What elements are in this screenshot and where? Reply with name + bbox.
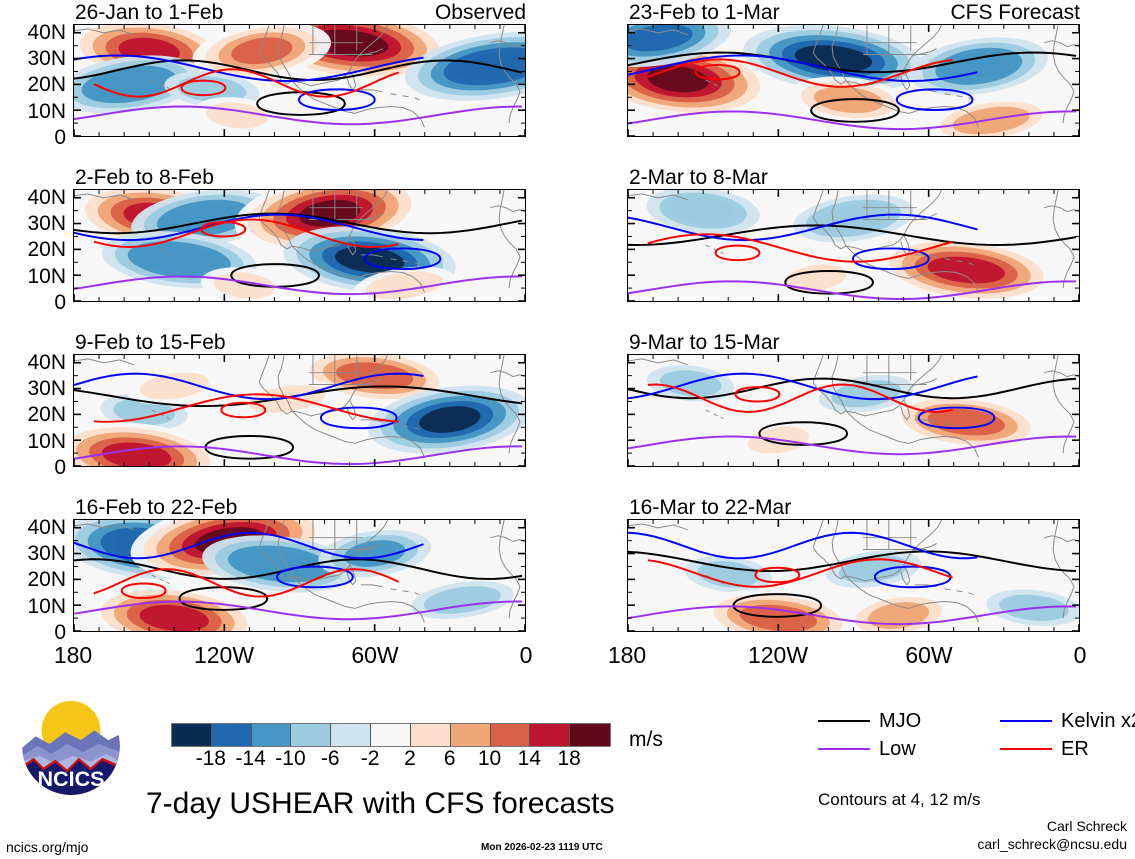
y-axis-label-row4-4: 0 [0, 622, 66, 643]
ncics-logo: NCICS [22, 697, 120, 795]
legend-item-er: ER [1000, 739, 1089, 759]
legend-line-swatch [1000, 720, 1052, 722]
y-axis-label-row3-3: 10N [0, 431, 66, 452]
y-axis-label-row1-2: 20N [0, 74, 66, 95]
y-axis-label-row4-0: 40N [0, 517, 66, 538]
legend-label: MJO [879, 711, 921, 731]
colorbar-segment-2 [252, 724, 292, 746]
x-axis-label-col2-1: 120W [718, 644, 838, 667]
ncics-logo-icon: NCICS [22, 697, 120, 795]
panel-title-fcst-3: 9-Mar to 15-Mar [629, 332, 780, 353]
panel-title-fcst-4: 16-Mar to 22-Mar [629, 497, 791, 518]
y-axis-label-row3-2: 20N [0, 404, 66, 425]
map-panel-fcst-3[interactable] [627, 354, 1080, 467]
column-header-left: Observed [73, 2, 526, 23]
y-axis-label-row2-2: 20N [0, 239, 66, 260]
site-url: ncics.org/mjo [6, 840, 88, 854]
legend-line-swatch [818, 748, 870, 750]
colorbar-segment-7 [451, 724, 491, 746]
map-panel-obs-4[interactable] [73, 519, 526, 632]
legend-item-low: Low [818, 739, 916, 759]
panel-title-obs-4: 16-Feb to 22-Feb [75, 497, 237, 518]
shaded-anomaly-field [628, 355, 1079, 466]
x-axis-label-col1-0: 180 [13, 644, 133, 667]
y-axis-label-row1-3: 10N [0, 101, 66, 122]
colorbar-segment-0 [172, 724, 212, 746]
map-canvas [74, 520, 525, 631]
colorbar-units-label: m/s [629, 729, 663, 750]
legend-label: Low [879, 739, 916, 759]
map-panel-fcst-2[interactable] [627, 189, 1080, 302]
map-panel-obs-1[interactable] [73, 24, 526, 137]
panel-title-fcst-2: 2-Mar to 8-Mar [629, 167, 768, 188]
author-name: Carl Schreck [1047, 818, 1127, 834]
legend-line-swatch [818, 720, 870, 722]
legend-label: Kelvin x2 [1061, 711, 1135, 731]
y-axis-label-row4-3: 10N [0, 596, 66, 617]
colorbar-segment-5 [371, 724, 411, 746]
x-axis-label-col2-2: 60W [869, 644, 989, 667]
colorbar-tick-9: 18 [529, 748, 609, 769]
y-axis-label-row2-3: 10N [0, 266, 66, 287]
colorbar-segment-1 [212, 724, 252, 746]
y-axis-label-row2-0: 40N [0, 187, 66, 208]
map-panel-obs-2[interactable] [73, 189, 526, 302]
colorbar-segment-4 [331, 724, 371, 746]
colorbar [171, 723, 611, 747]
colorbar-segment-10 [570, 724, 610, 746]
y-axis-label-row3-1: 30N [0, 378, 66, 399]
map-panel-fcst-1[interactable] [627, 24, 1080, 137]
x-axis-label-col1-2: 60W [315, 644, 435, 667]
map-canvas [628, 190, 1079, 301]
legend-label: ER [1061, 739, 1089, 759]
colorbar-segment-9 [530, 724, 570, 746]
legend-line-swatch [1000, 748, 1052, 750]
page-title: 7-day USHEAR with CFS forecasts [146, 789, 614, 819]
timestamp: Mon 2026-02-23 1119 UTC [481, 843, 603, 853]
y-axis-label-row2-4: 0 [0, 292, 66, 313]
y-axis-label-row4-1: 30N [0, 543, 66, 564]
y-axis-label-row4-2: 20N [0, 569, 66, 590]
map-canvas [628, 25, 1079, 136]
colorbar-segment-6 [411, 724, 451, 746]
map-canvas [74, 190, 525, 301]
colorbar-segment-8 [491, 724, 531, 746]
y-axis-label-row3-4: 0 [0, 457, 66, 478]
author-email: carl_schreck@ncsu.edu [977, 836, 1127, 852]
panel-title-obs-2: 2-Feb to 8-Feb [75, 167, 214, 188]
y-axis-label-row3-0: 40N [0, 352, 66, 373]
map-canvas [628, 355, 1079, 466]
contours-note: Contours at 4, 12 m/s [818, 791, 981, 808]
y-axis-label-row2-1: 30N [0, 213, 66, 234]
map-canvas [628, 520, 1079, 631]
panel-title-obs-3: 9-Feb to 15-Feb [75, 332, 226, 353]
y-axis-label-row1-1: 30N [0, 48, 66, 69]
shaded-anomaly-field [628, 25, 1079, 136]
y-axis-label-row1-0: 40N [0, 22, 66, 43]
column-header-right: CFS Forecast [627, 2, 1080, 23]
map-panel-fcst-4[interactable] [627, 519, 1080, 632]
y-axis-label-row1-4: 0 [0, 127, 66, 148]
map-canvas [74, 355, 525, 466]
ncics-logo-text: NCICS [37, 766, 104, 791]
legend-item-mjo: MJO [818, 711, 921, 731]
map-panel-obs-3[interactable] [73, 354, 526, 467]
x-axis-label-col2-3: 0 [1020, 644, 1135, 667]
x-axis-label-col2-0: 180 [567, 644, 687, 667]
map-canvas [74, 25, 525, 136]
x-axis-label-col1-1: 120W [164, 644, 284, 667]
shaded-anomaly-field [628, 520, 1079, 631]
legend-item-kelvin-x2: Kelvin x2 [1000, 711, 1135, 731]
colorbar-segment-3 [291, 724, 331, 746]
